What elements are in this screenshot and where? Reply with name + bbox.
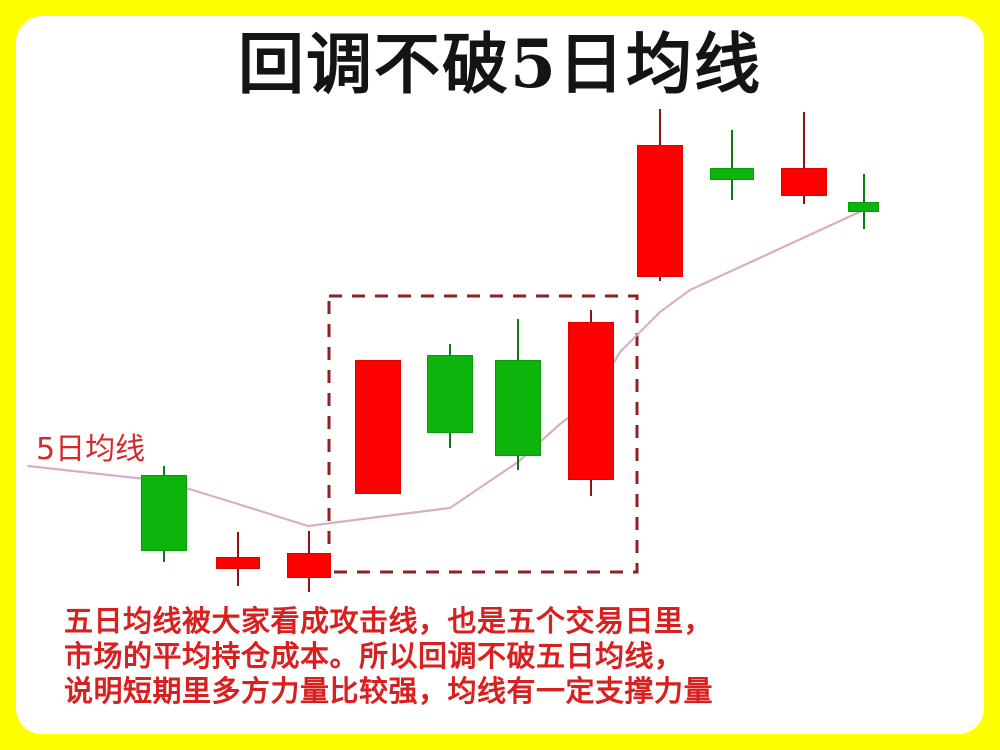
yellow-frame: 回调不破5日均线 5日均线	[0, 0, 1000, 750]
page-title: 回调不破5日均线	[16, 28, 984, 100]
chart-canvas: 回调不破5日均线 5日均线	[16, 16, 984, 734]
caption-block: 五日均线被大家看成攻击线，也是五个交易日里， 市场的平均持仓成本。所以回调不破五…	[64, 604, 944, 709]
candle-2	[216, 532, 260, 586]
caption-line-3: 说明短期里多方力量比较强，均线有一定支撑力量	[64, 674, 944, 709]
candle-10	[781, 112, 827, 204]
candle-body	[355, 360, 401, 494]
candle-body	[848, 202, 879, 212]
candle-body	[568, 322, 614, 480]
candle-body	[495, 360, 541, 456]
candle-6	[495, 319, 541, 470]
candle-7	[568, 310, 614, 496]
candle-body	[216, 557, 260, 569]
candle-body	[637, 145, 683, 277]
candle-8	[637, 109, 683, 281]
candle-11	[848, 174, 879, 229]
caption-line-1: 五日均线被大家看成攻击线，也是五个交易日里，	[64, 604, 944, 639]
candle-body	[287, 553, 331, 578]
ma5-label: 5日均线	[36, 433, 145, 467]
candle-wick	[731, 130, 733, 200]
candle-5	[427, 344, 473, 448]
candle-3	[287, 531, 331, 592]
candle-1	[141, 466, 187, 562]
candle-9	[710, 130, 754, 200]
caption-line-2: 市场的平均持仓成本。所以回调不破五日均线，	[64, 639, 944, 674]
candle-body	[710, 168, 754, 180]
candle-body	[781, 168, 827, 196]
candle-body	[141, 475, 187, 551]
candle-body	[427, 355, 473, 433]
candle-4	[355, 360, 401, 494]
chart-stage: 回调不破5日均线 5日均线	[16, 16, 984, 734]
